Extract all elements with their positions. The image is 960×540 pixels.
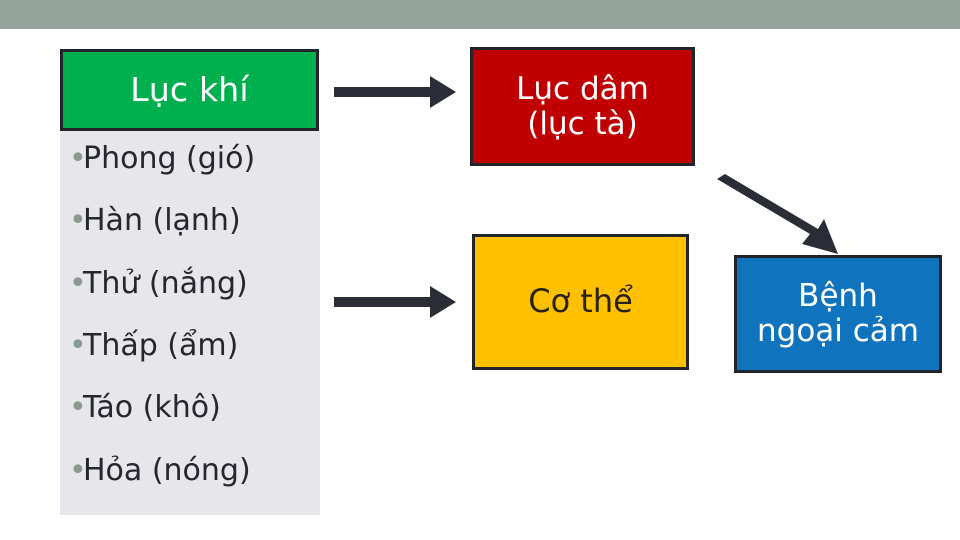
luc-khi-list: • Phong (gió) • Hàn (lạnh) • Thử (nắng) … <box>60 131 320 515</box>
benh-ngoai-cam-line2: ngoại cảm <box>757 313 919 349</box>
luc-dam-label: Lục dâm (lục tà) <box>516 72 649 141</box>
bullet-icon: • <box>69 269 83 299</box>
bullet-icon: • <box>69 144 83 174</box>
bullet-icon: • <box>69 331 83 361</box>
list-item: • Hàn (lạnh) <box>60 203 320 265</box>
luc-dam-line1: Lục dâm <box>516 71 649 107</box>
benh-ngoai-cam-line1: Bệnh <box>798 278 878 314</box>
list-item-label: Táo (khô) <box>83 390 221 425</box>
list-item-label: Thấp (ẩm) <box>83 328 238 363</box>
arrow-luc-khi-to-co-the-icon <box>330 282 460 322</box>
luc-khi-header-label: Lục khí <box>130 73 249 108</box>
luc-dam-line2: (lục tà) <box>527 106 638 142</box>
list-item: • Hỏa (nóng) <box>60 453 320 515</box>
arrow-luc-dam-to-benh-ngoai-cam-icon <box>714 166 854 266</box>
list-item-label: Thử (nắng) <box>83 266 248 301</box>
list-item: • Thấp (ẩm) <box>60 328 320 390</box>
bullet-icon: • <box>69 393 83 423</box>
list-item-label: Hỏa (nóng) <box>83 453 251 488</box>
luc-dam-box: Lục dâm (lục tà) <box>470 47 695 166</box>
co-the-box: Cơ thể <box>472 234 689 370</box>
list-item-label: Hàn (lạnh) <box>83 203 241 238</box>
list-item: • Phong (gió) <box>60 141 320 203</box>
arrow-luc-khi-to-luc-dam-icon <box>330 72 460 112</box>
co-the-label: Cơ thể <box>528 284 633 320</box>
benh-ngoai-cam-label: Bệnh ngoại cảm <box>757 279 919 348</box>
bullet-icon: • <box>69 456 83 486</box>
luc-khi-header-box: Lục khí <box>60 49 319 131</box>
bullet-icon: • <box>69 206 83 236</box>
top-decorative-bar <box>0 0 960 29</box>
list-item-label: Phong (gió) <box>83 141 255 176</box>
list-item: • Táo (khô) <box>60 390 320 452</box>
slide-canvas: Lục khí • Phong (gió) • Hàn (lạnh) • Thử… <box>0 0 960 540</box>
benh-ngoai-cam-box: Bệnh ngoại cảm <box>734 255 942 373</box>
list-item: • Thử (nắng) <box>60 266 320 328</box>
